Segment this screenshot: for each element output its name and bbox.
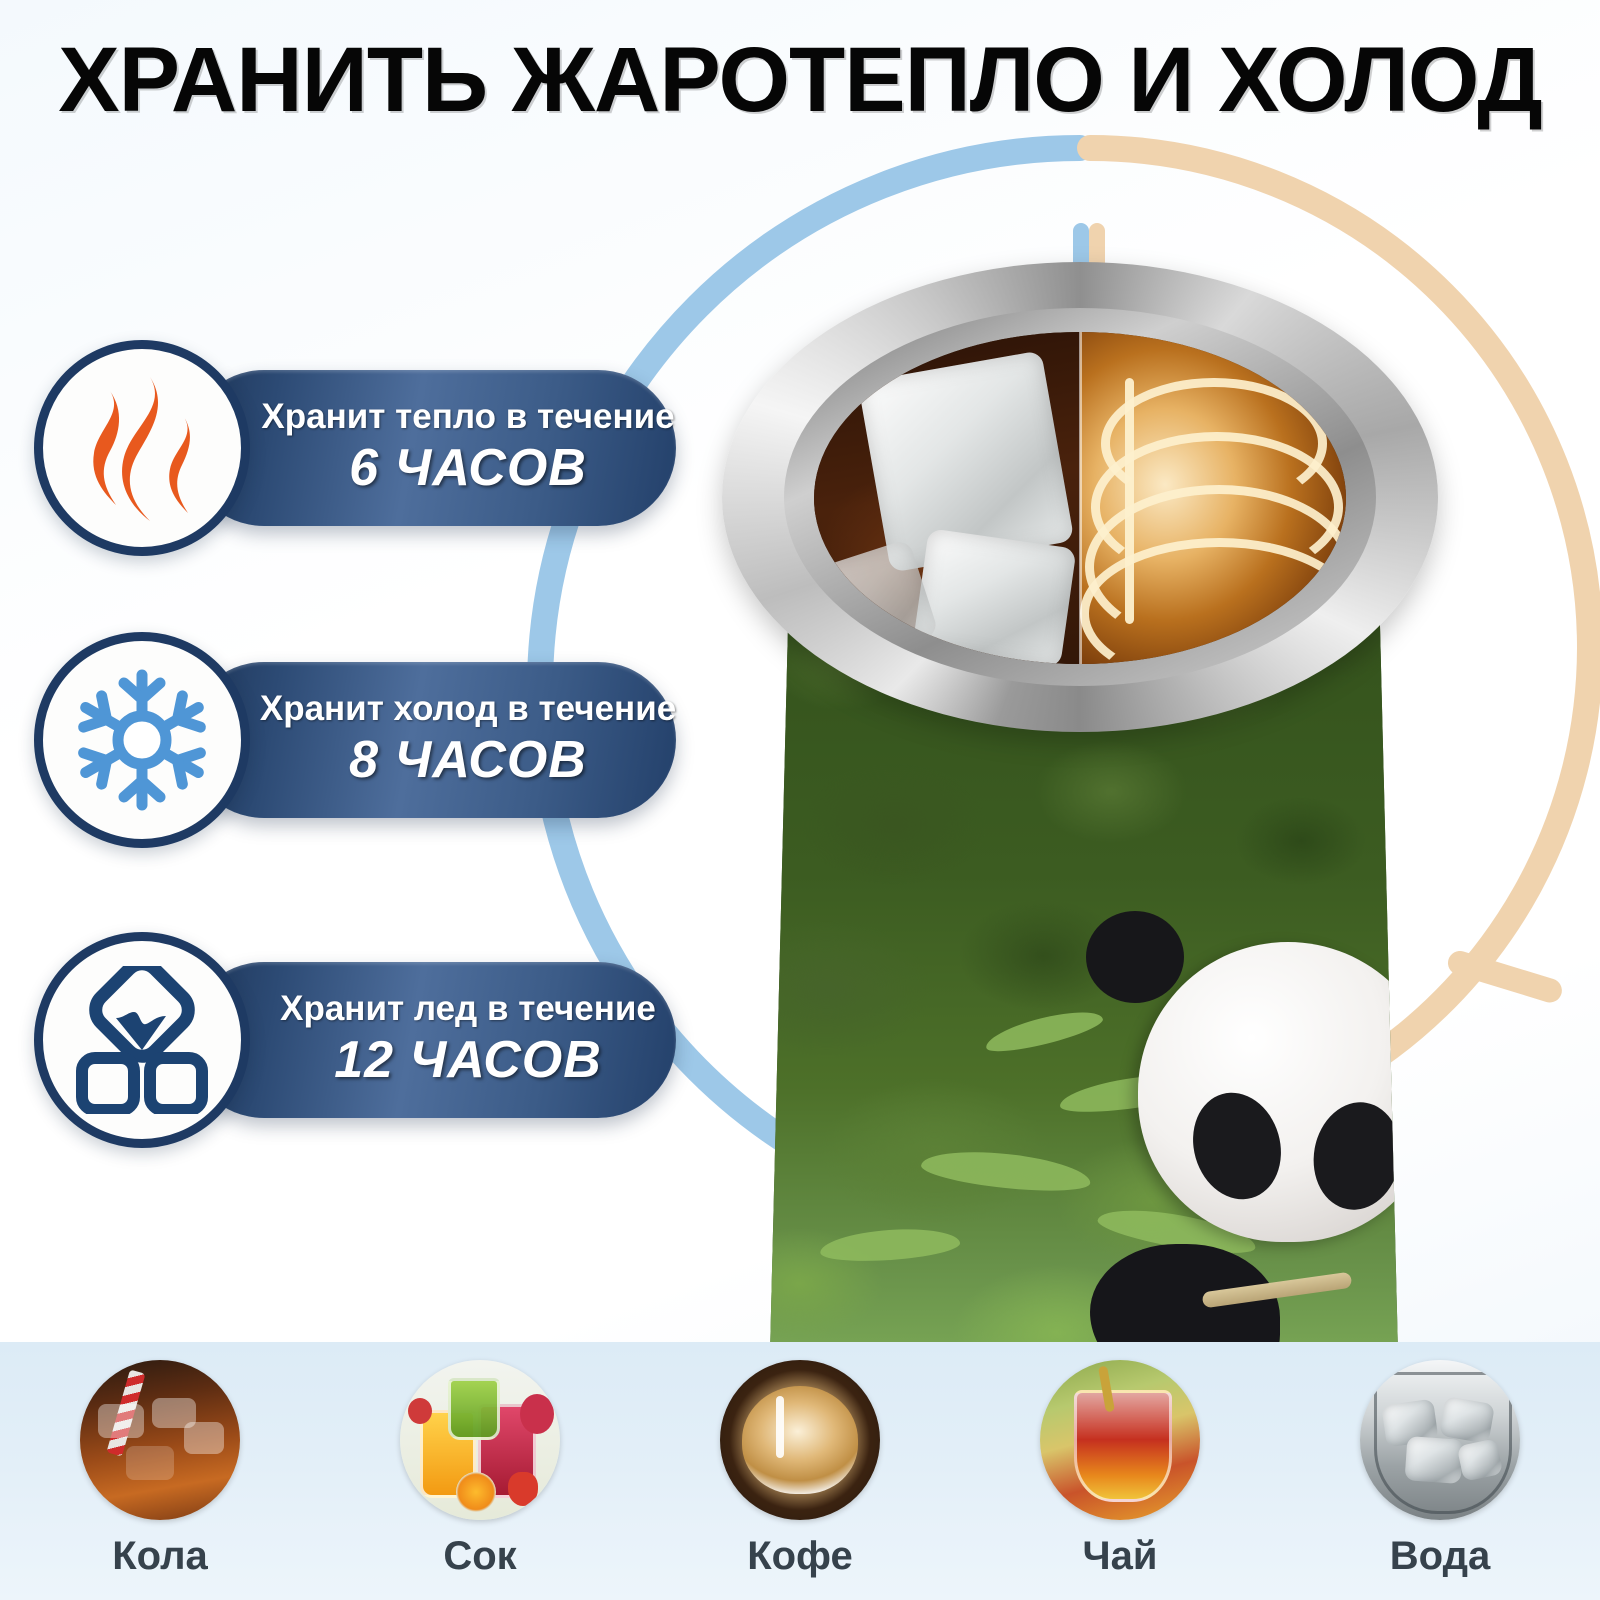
feature-row-keeps-cold: Хранит холод в течение 8 ЧАСОВ <box>34 632 676 848</box>
feature-label-hot: Хранит тепло в течение <box>261 399 674 434</box>
flame-icon <box>76 373 208 523</box>
beverage-item-juice: Сок <box>360 1360 600 1579</box>
beverage-label-juice: Сок <box>443 1534 516 1579</box>
feature-pill-cold: Хранит холод в течение 8 ЧАСОВ <box>186 662 676 818</box>
tea-icon <box>1040 1360 1200 1520</box>
iced-coffee-half <box>814 332 1080 664</box>
snowflake-icon <box>67 665 217 815</box>
feature-value-ice: 12 ЧАСОВ <box>334 1032 602 1089</box>
feature-row-keeps-hot: Хранит тепло в течение 6 ЧАСОВ <box>34 340 676 556</box>
feature-value-cold: 8 ЧАСОВ <box>349 732 587 789</box>
feature-pill-ice: Хранит лед в течение 12 ЧАСОВ <box>186 962 676 1118</box>
tumbler-contents-split-view <box>814 332 1346 664</box>
beverage-item-cola: Кола <box>40 1360 280 1579</box>
beverage-item-coffee: Кофе <box>680 1360 920 1579</box>
coffee-icon <box>720 1360 880 1520</box>
feature-label-ice: Хранит лед в течение <box>280 991 656 1026</box>
beverage-label-water: Вода <box>1390 1534 1490 1579</box>
ice-cubes-icon <box>72 966 212 1114</box>
water-icon <box>1360 1360 1520 1520</box>
feature-row-keeps-ice: Хранит лед в течение 12 ЧАСОВ <box>34 932 676 1148</box>
beverage-label-coffee: Кофе <box>747 1534 853 1579</box>
feature-icon-circle-cold <box>34 632 250 848</box>
beverage-item-tea: Чай <box>1000 1360 1240 1579</box>
hot-cold-split-divider <box>1079 332 1082 664</box>
feature-value-hot: 6 ЧАСОВ <box>349 440 587 497</box>
feature-icon-circle-hot <box>34 340 250 556</box>
feature-pill-hot: Хранит тепло в течение 6 ЧАСОВ <box>186 370 676 526</box>
panda-ear-illustration <box>1086 911 1184 1003</box>
tumbler-rim <box>722 262 1438 732</box>
cola-icon <box>80 1360 240 1520</box>
beverage-label-tea: Чай <box>1083 1534 1158 1579</box>
product-tumbler <box>722 262 1438 1352</box>
feature-icon-circle-ice <box>34 932 250 1148</box>
feature-label-cold: Хранит холод в течение <box>260 691 676 726</box>
infographic-page: ХРАНИТЬ ЖАРОТЕПЛО И ХОЛОД <box>0 0 1600 1600</box>
juice-icon <box>400 1360 560 1520</box>
hot-latte-art-half <box>1080 332 1346 664</box>
page-title: ХРАНИТЬ ЖАРОТЕПЛО И ХОЛОД <box>0 34 1600 126</box>
beverage-item-water: Вода <box>1320 1360 1560 1579</box>
beverage-compatibility-row: Кола Сок Кофе <box>0 1342 1600 1600</box>
beverage-label-cola: Кола <box>112 1534 208 1579</box>
